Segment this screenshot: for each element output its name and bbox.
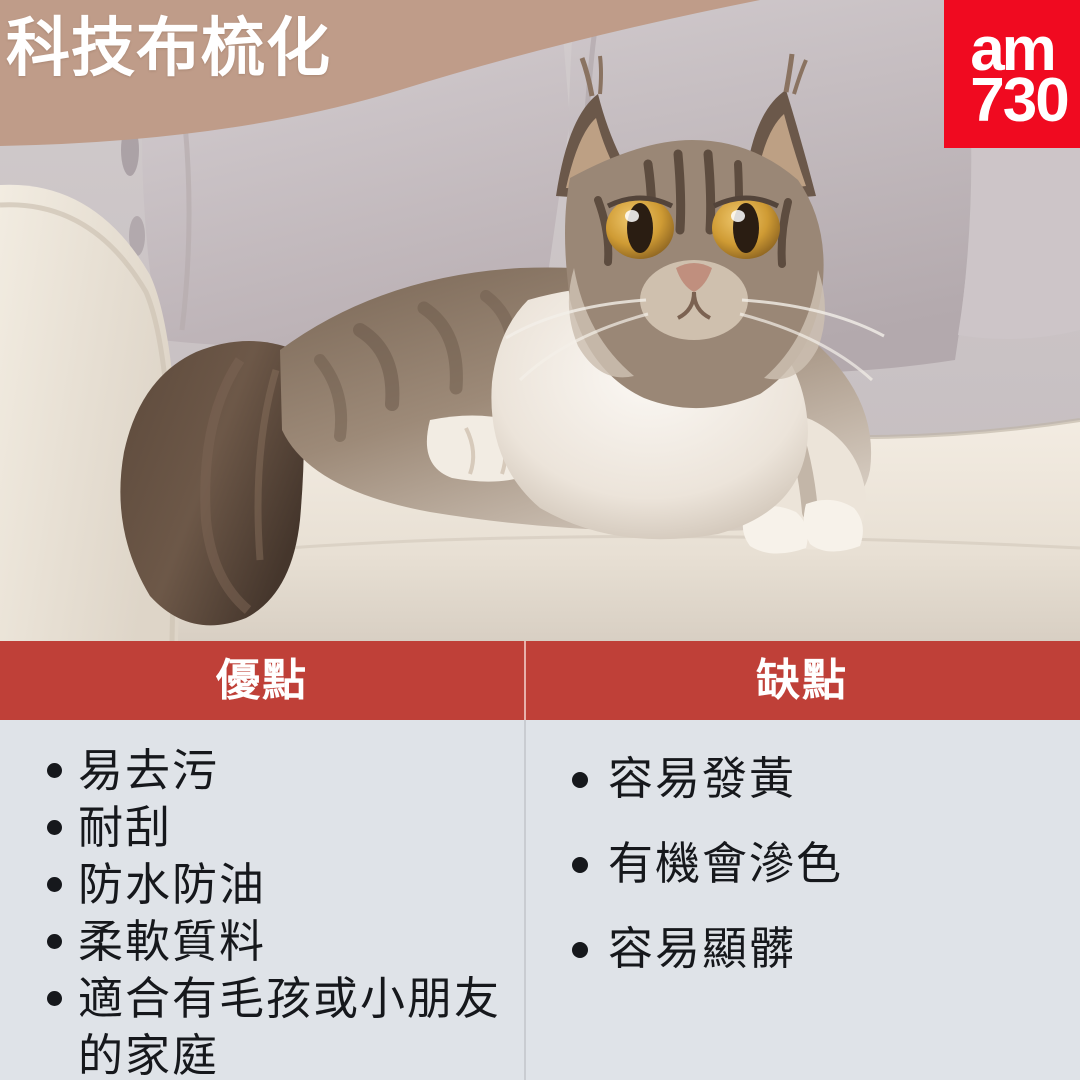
list-item: 有機會滲色 bbox=[608, 835, 1048, 893]
cons-column: 容易發黃 有機會滲色 容易顯髒 bbox=[524, 720, 1080, 1080]
cons-list: 容易發黃 有機會滲色 容易顯髒 bbox=[608, 750, 1048, 978]
am730-logo[interactable]: am 730 bbox=[944, 0, 1080, 148]
header-pros: 優點 bbox=[0, 641, 524, 720]
header-cons: 缺點 bbox=[524, 641, 1080, 720]
list-item: 容易顯髒 bbox=[608, 920, 1048, 978]
pros-column: 易去污 耐刮 防水防油 柔軟質料 適合有毛孩或小朋友的家庭 bbox=[0, 720, 524, 1080]
list-item: 易去污 bbox=[78, 742, 518, 799]
header-divider bbox=[524, 641, 526, 720]
infographic-card: 科技布梳化 am 730 優點 缺點 易去污 耐刮 防水防油 柔軟質料 適合有毛… bbox=[0, 0, 1080, 1080]
logo-text-730: 730 bbox=[970, 74, 1067, 127]
pros-list: 易去污 耐刮 防水防油 柔軟質料 適合有毛孩或小朋友的家庭 bbox=[78, 742, 518, 1080]
list-item: 耐刮 bbox=[78, 799, 518, 856]
list-item: 柔軟質料 bbox=[78, 913, 518, 970]
hero-photo bbox=[0, 0, 1080, 641]
list-item: 容易發黃 bbox=[608, 750, 1048, 808]
cat-on-sofa-illustration bbox=[0, 0, 1080, 641]
comparison-header: 優點 缺點 bbox=[0, 641, 1080, 720]
list-item: 適合有毛孩或小朋友的家庭 bbox=[78, 970, 518, 1080]
list-item: 防水防油 bbox=[78, 856, 518, 913]
body-divider bbox=[524, 720, 526, 1080]
comparison-body: 易去污 耐刮 防水防油 柔軟質料 適合有毛孩或小朋友的家庭 容易發黃 有機會滲色… bbox=[0, 720, 1080, 1080]
